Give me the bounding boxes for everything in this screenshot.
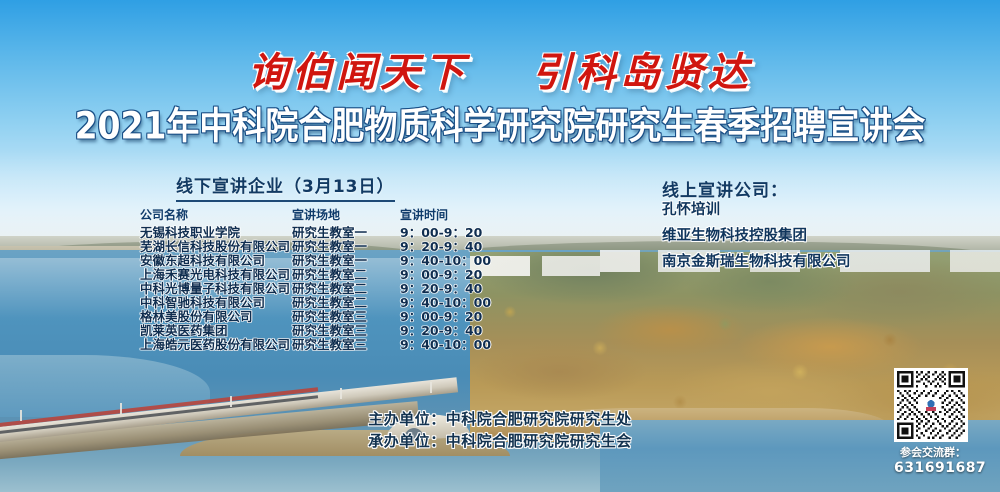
cell-venue: 研究生教室二 <box>292 268 400 282</box>
list-item: 南京金斯瑞生物科技有限公司 <box>662 254 851 271</box>
cell-company: 凯莱英医药集团 <box>140 324 292 338</box>
cell-venue: 研究生教室三 <box>292 310 400 324</box>
cell-company: 格林美股份有限公司 <box>140 310 292 324</box>
column-header-time: 宣讲时间 <box>400 206 510 223</box>
table-row: 上海禾赛光电科技有限公司 研究生教室二 9：00-9：20 <box>140 268 510 282</box>
cell-time: 9：40-10：00 <box>400 296 510 310</box>
offline-section-heading: 线下宣讲企业（3月13日） <box>176 172 395 202</box>
bridge-lamp <box>430 382 432 393</box>
online-section-heading: 线上宣讲公司： <box>662 176 788 201</box>
organizer-block: 主办单位：中科院合肥研究院研究生处 承办单位：中科院合肥研究院研究生会 <box>0 408 1000 452</box>
poster-main-title: 2021年中科院合肥物质科学研究院研究生春季招聘宣讲会 <box>0 96 1000 150</box>
qr-block: 参会交流群： 631691687 <box>894 368 972 476</box>
table-row: 芜湖长信科技股份有限公司 研究生教室一 9：20-9：40 <box>140 240 510 254</box>
cell-time: 9：00-9：20 <box>400 310 510 324</box>
offline-schedule-table: 公司名称 宣讲场地 宣讲时间 无锡科技职业学院 研究生教室一 9：00-9：20… <box>140 206 510 352</box>
qr-caption: 参会交流群： <box>894 446 972 460</box>
table-row: 格林美股份有限公司 研究生教室三 9：00-9：20 <box>140 310 510 324</box>
cell-venue: 研究生教室三 <box>292 338 400 352</box>
cell-venue: 研究生教室一 <box>292 226 400 240</box>
cell-venue: 研究生教室一 <box>292 254 400 268</box>
calligraphy-right: 引科岛贤达 <box>532 49 752 96</box>
organizer-unit-line: 承办单位：中科院合肥研究院研究生会 <box>0 430 1000 452</box>
cell-time: 9：40-10：00 <box>400 254 510 268</box>
cell-time: 9：20-9：40 <box>400 282 510 296</box>
list-item: 维亚生物科技控股集团 <box>662 228 851 245</box>
cell-company: 中科光博量子科技有限公司 <box>140 282 292 296</box>
list-item: 孔怀培训 <box>662 202 851 219</box>
bridge-lamp <box>340 388 342 399</box>
bridge-lamp <box>230 396 232 407</box>
cell-venue: 研究生教室二 <box>292 282 400 296</box>
cell-time: 9：00-9：20 <box>400 268 510 282</box>
calligraphy-headline: 询伯闻天下 引科岛贤达 <box>0 40 1000 98</box>
cell-company: 芜湖长信科技股份有限公司 <box>140 240 292 254</box>
table-row: 凯莱英医药集团 研究生教室三 9：20-9：40 <box>140 324 510 338</box>
table-header-row: 公司名称 宣讲场地 宣讲时间 <box>140 206 510 223</box>
cell-company: 中科智驰科技有限公司 <box>140 296 292 310</box>
cell-company: 上海禾赛光电科技有限公司 <box>140 268 292 282</box>
qr-code-icon[interactable] <box>894 368 968 442</box>
cell-time: 9：20-9：40 <box>400 324 510 338</box>
cell-time: 9：00-9：20 <box>400 226 510 240</box>
table-row: 安徽东超科技有限公司 研究生教室一 9：40-10：00 <box>140 254 510 268</box>
cell-time: 9：20-9：40 <box>400 240 510 254</box>
cell-time: 9：40-10：00 <box>400 338 510 352</box>
table-row: 上海皓元医药股份有限公司 研究生教室三 9：40-10：00 <box>140 338 510 352</box>
table-row: 无锡科技职业学院 研究生教室一 9：00-9：20 <box>140 226 510 240</box>
cell-venue: 研究生教室三 <box>292 324 400 338</box>
host-unit-line: 主办单位：中科院合肥研究院研究生处 <box>0 408 1000 430</box>
column-header-company: 公司名称 <box>140 206 292 223</box>
table-row: 中科智驰科技有限公司 研究生教室二 9：40-10：00 <box>140 296 510 310</box>
cell-company: 安徽东超科技有限公司 <box>140 254 292 268</box>
cell-venue: 研究生教室一 <box>292 240 400 254</box>
qr-group-number: 631691687 <box>894 460 972 476</box>
qr-code-graphic <box>897 371 965 439</box>
table-row: 中科光博量子科技有限公司 研究生教室二 9：20-9：40 <box>140 282 510 296</box>
cell-company: 上海皓元医药股份有限公司 <box>140 338 292 352</box>
cell-venue: 研究生教室二 <box>292 296 400 310</box>
cell-company: 无锡科技职业学院 <box>140 226 292 240</box>
online-company-list: 孔怀培训 维亚生物科技控股集团 南京金斯瑞生物科技有限公司 <box>662 202 851 280</box>
column-header-venue: 宣讲场地 <box>292 206 400 223</box>
calligraphy-left: 询伯闻天下 <box>248 49 468 96</box>
poster-canvas: 询伯闻天下 引科岛贤达 2021年中科院合肥物质科学研究院研究生春季招聘宣讲会 … <box>0 0 1000 492</box>
